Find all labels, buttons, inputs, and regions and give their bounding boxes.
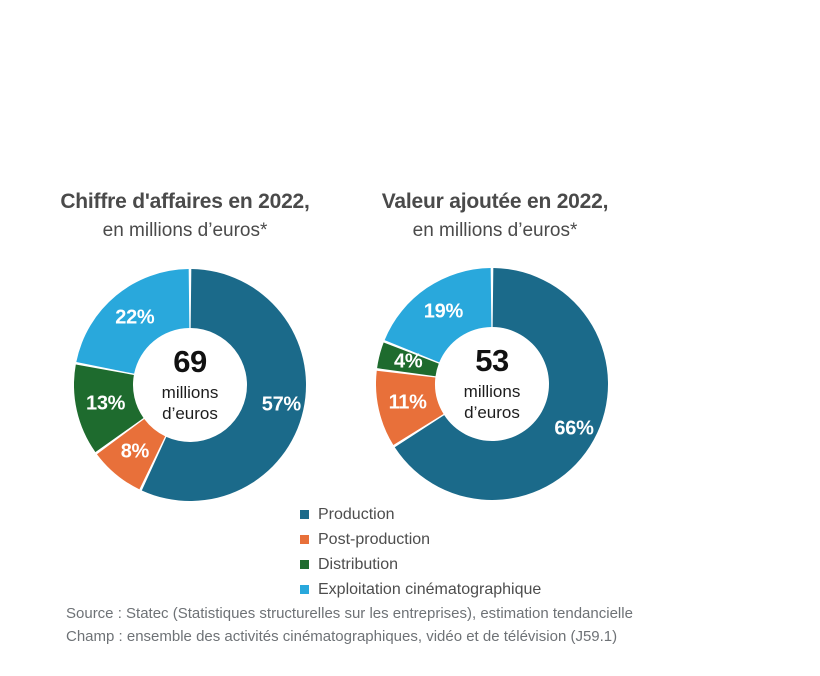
donut-slice-4[interactable] xyxy=(76,269,189,374)
legend-item[interactable]: Distribution xyxy=(300,552,541,577)
donut-left-slices xyxy=(74,269,306,501)
donut-chart-value-added: 53 millions d’euros 66%11%4%19% xyxy=(376,268,608,500)
donut-left-svg xyxy=(74,269,306,501)
chart-title-left: Chiffre d'affaires en 2022, en millions … xyxy=(30,190,340,242)
legend-item-label: Post-production xyxy=(318,531,430,549)
donut-chart-revenue: 69 millions d’euros 57%8%13%22% xyxy=(74,269,306,501)
legend-swatch-icon xyxy=(300,510,309,519)
footer-notes: Source : Statec (Statistiques structurel… xyxy=(66,602,633,649)
donut-slice-4[interactable] xyxy=(385,268,492,362)
footer-source: Source : Statec (Statistiques structurel… xyxy=(66,602,633,625)
footer-scope: Champ : ensemble des activités cinématog… xyxy=(66,625,633,648)
chart-title-right: Valeur ajoutée en 2022, en millions d’eu… xyxy=(350,190,640,242)
chart-title-left-main: Chiffre d'affaires en 2022, xyxy=(30,190,340,214)
chart-title-right-main: Valeur ajoutée en 2022, xyxy=(350,190,640,214)
legend-item[interactable]: Exploitation cinématographique xyxy=(300,577,541,602)
legend-item-label: Distribution xyxy=(318,556,398,574)
legend-item-label: Exploitation cinématographique xyxy=(318,581,541,599)
donut-right-slices xyxy=(376,268,608,500)
legend-swatch-icon xyxy=(300,585,309,594)
legend-swatch-icon xyxy=(300,535,309,544)
chart-title-left-sub: en millions d’euros* xyxy=(30,220,340,242)
legend-swatch-icon xyxy=(300,560,309,569)
legend-item-label: Production xyxy=(318,506,395,524)
donut-right-svg xyxy=(376,268,608,500)
chart-title-right-sub: en millions d’euros* xyxy=(350,220,640,242)
chart-legend: ProductionPost-productionDistributionExp… xyxy=(300,502,541,602)
legend-item[interactable]: Production xyxy=(300,502,541,527)
legend-item[interactable]: Post-production xyxy=(300,527,541,552)
